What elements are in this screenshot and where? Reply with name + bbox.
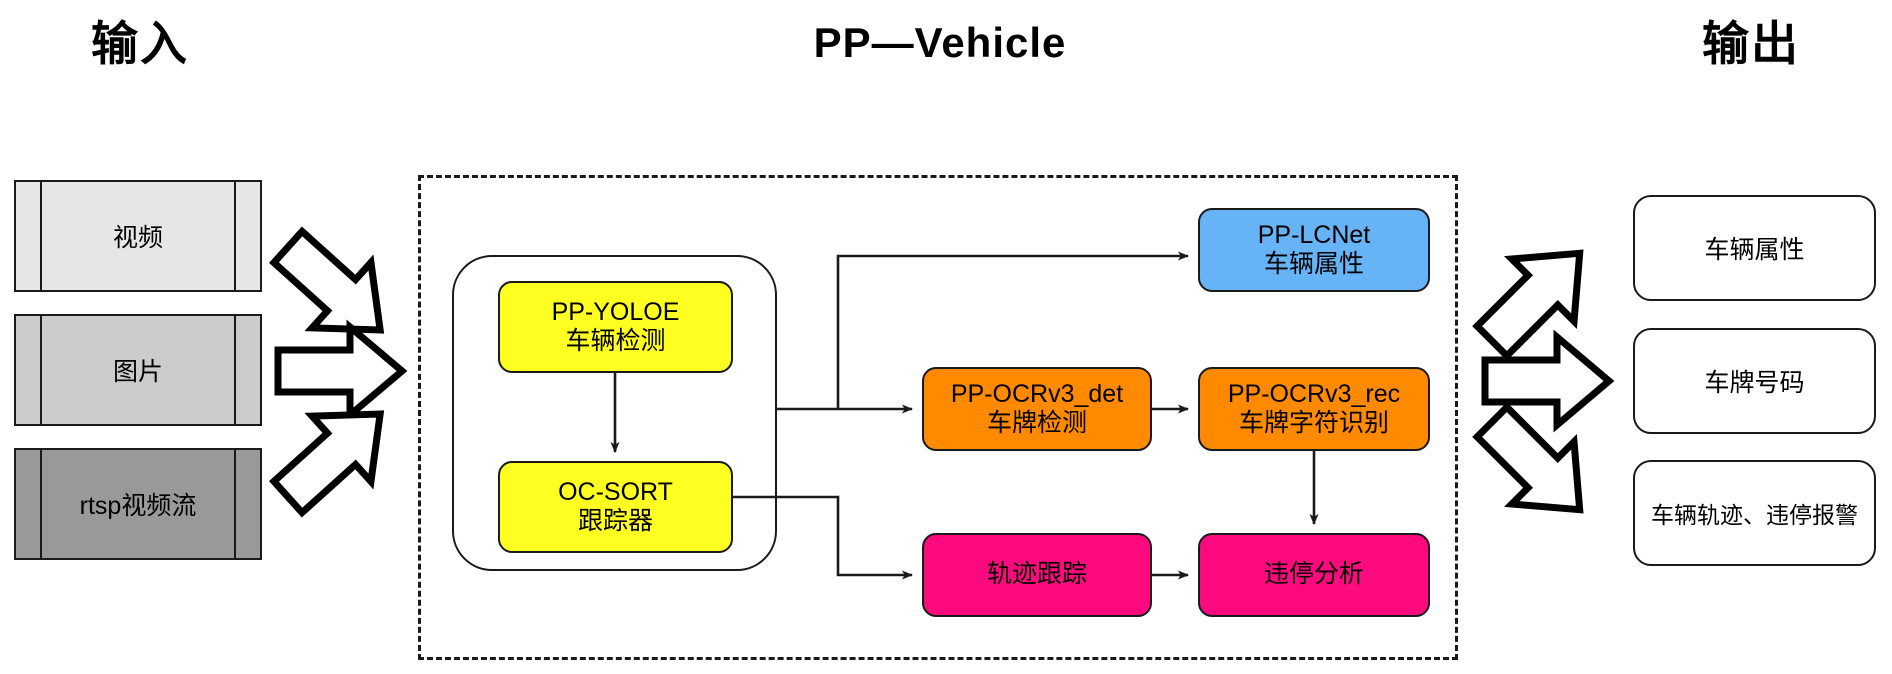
node-title: PP-LCNet (1258, 221, 1371, 251)
tape-left-sprocket-icon (40, 182, 42, 290)
node-pp-lcnet: PP-LCNet 车辆属性 (1198, 208, 1430, 292)
page-title-pp-vehicle: PP—Vehicle (500, 22, 1380, 64)
output-label: 车辆属性 (1704, 230, 1804, 266)
input-item-image: 图片 (14, 314, 262, 426)
input-item-rtsp-stream: rtsp视频流 (14, 448, 262, 560)
node-subtitle: 跟踪器 (578, 507, 653, 537)
node-subtitle: 车辆属性 (1264, 250, 1364, 280)
page-title-output: 输出 (1610, 20, 1892, 67)
node-pp-ocrv3-det: PP-OCRv3_det 车牌检测 (922, 367, 1152, 451)
node-oc-sort: OC-SORT 跟踪器 (498, 461, 733, 553)
node-subtitle: 车牌检测 (987, 409, 1087, 439)
input-label-rtsp-stream: rtsp视频流 (80, 486, 197, 522)
output-label: 车辆轨迹、违停报警 (1651, 496, 1858, 530)
node-trajectory-tracking: 轨迹跟踪 (922, 533, 1152, 617)
tape-right-sprocket-icon (234, 450, 236, 558)
output-item-vehicle-attributes: 车辆属性 (1633, 195, 1876, 301)
node-pp-yoloe: PP-YOLOE 车辆检测 (498, 281, 733, 373)
input-down-right-block-arrow (259, 214, 410, 362)
node-pp-ocrv3-rec: PP-OCRv3_rec 车牌字符识别 (1198, 367, 1430, 451)
output-item-trajectory-and-alert: 车辆轨迹、违停报警 (1633, 460, 1876, 566)
input-up-right-block-arrow (259, 381, 410, 529)
diagram-canvas: 输入 PP—Vehicle 输出 视频 图片 rtsp视频流 (0, 0, 1892, 674)
node-title: OC-SORT (558, 478, 673, 508)
output-down-right-block-arrow (1461, 391, 1611, 541)
tape-right-sprocket-icon (234, 182, 236, 290)
node-illegal-parking-analysis: 违停分析 (1198, 533, 1430, 617)
page-title-input: 输入 (0, 20, 280, 67)
input-right-block-arrow (278, 327, 402, 415)
node-subtitle: 车牌字符识别 (1239, 409, 1389, 439)
node-title: PP-OCRv3_rec (1228, 380, 1400, 410)
output-right-block-arrow (1485, 337, 1609, 425)
output-item-license-plate-number: 车牌号码 (1633, 328, 1876, 434)
node-title: 轨迹跟踪 (987, 560, 1087, 590)
tape-right-sprocket-icon (234, 316, 236, 424)
tape-left-sprocket-icon (40, 316, 42, 424)
input-label-video: 视频 (113, 218, 163, 254)
tape-left-sprocket-icon (40, 450, 42, 558)
input-item-video: 视频 (14, 180, 262, 292)
node-subtitle: 车辆检测 (565, 327, 665, 357)
output-label: 车牌号码 (1704, 363, 1804, 399)
node-title: PP-OCRv3_det (951, 380, 1123, 410)
output-up-right-block-arrow (1461, 222, 1611, 372)
node-title: PP-YOLOE (552, 298, 680, 328)
input-label-image: 图片 (113, 352, 163, 388)
node-title: 违停分析 (1264, 560, 1364, 590)
